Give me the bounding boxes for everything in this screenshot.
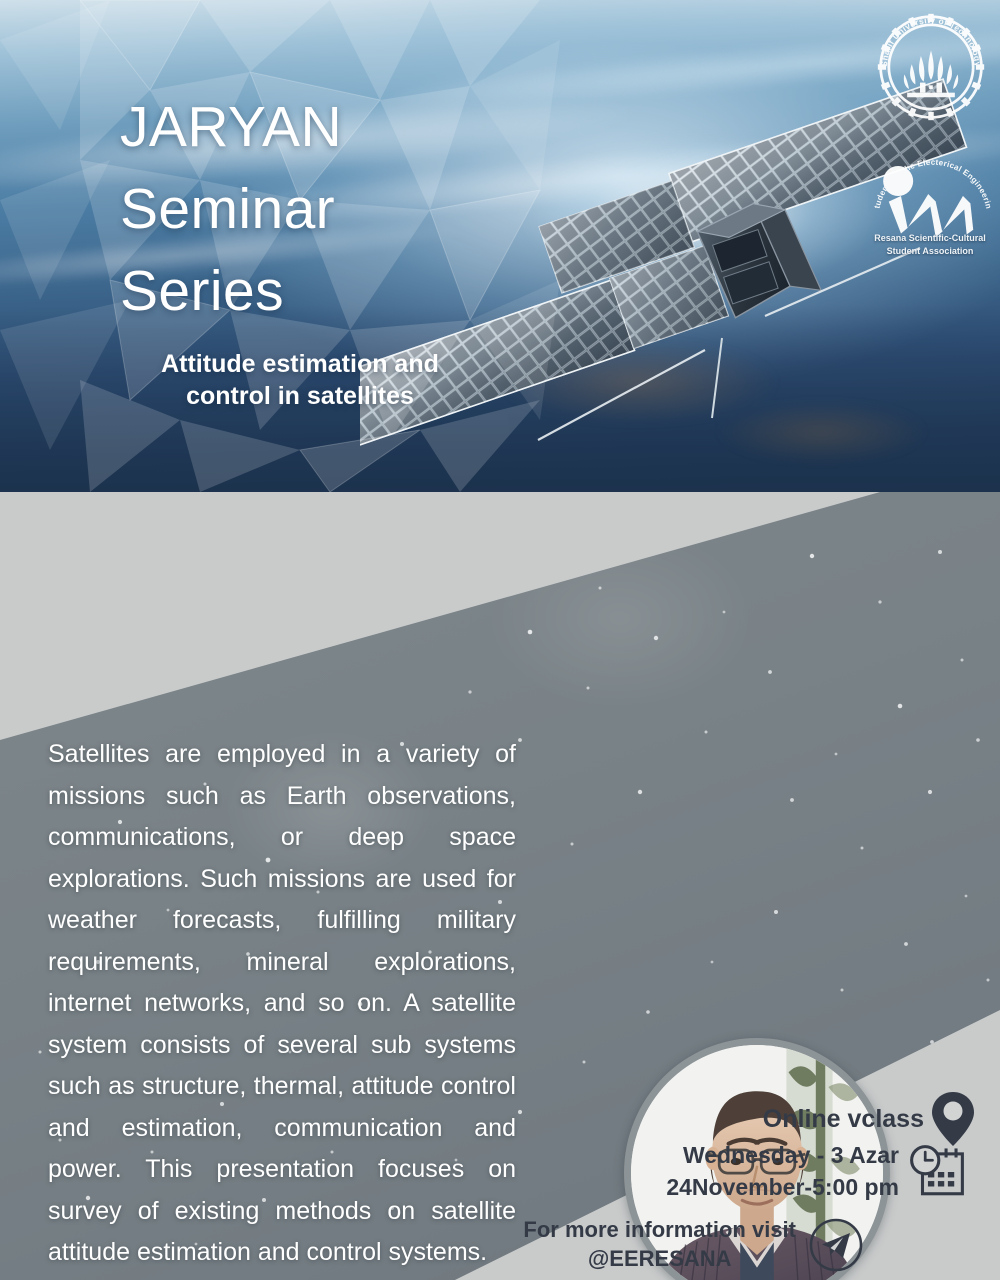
contact-line-2: @EERESANA xyxy=(523,1245,796,1274)
calendar-clock-icon xyxy=(908,1143,966,1201)
seminar-poster: JARYAN Seminar Series Attitude estimatio… xyxy=(0,0,1000,1280)
date-line-1: Wednesday - 3 Azar xyxy=(666,1140,899,1172)
title-line-3: Series xyxy=(120,250,540,332)
contact-row[interactable]: For more information visit @EERESANA xyxy=(523,1216,864,1273)
resana-caption-line-2: Student Association xyxy=(864,245,996,258)
title-line-2: Seminar xyxy=(120,168,540,250)
date-line-2: 24November-5:00 pm xyxy=(666,1172,899,1204)
telegram-icon[interactable] xyxy=(808,1217,864,1273)
title-block: JARYAN Seminar Series Attitude estimatio… xyxy=(120,86,540,412)
title-line-1: JARYAN xyxy=(120,86,540,168)
poster-header: JARYAN Seminar Series Attitude estimatio… xyxy=(0,0,1000,492)
sharif-university-logo: Sharif University of Technology xyxy=(876,12,986,122)
resana-caption-line-1: Resana Scientific-Cultural xyxy=(864,232,996,245)
date-text: Wednesday - 3 Azar 24November-5:00 pm xyxy=(666,1140,899,1203)
resana-logo-caption: Resana Scientific-Cultural Student Assoc… xyxy=(864,232,996,258)
date-row: Wednesday - 3 Azar 24November-5:00 pm xyxy=(666,1140,966,1203)
contact-text: For more information visit @EERESANA xyxy=(523,1216,796,1273)
venue-label: Online vclass xyxy=(763,1105,924,1134)
seminar-subtitle: Attitude estimation and control in satel… xyxy=(120,348,480,412)
contact-line-1: For more information visit xyxy=(523,1216,796,1245)
abstract-text: Satellites are employed in a variety of … xyxy=(48,734,516,1274)
